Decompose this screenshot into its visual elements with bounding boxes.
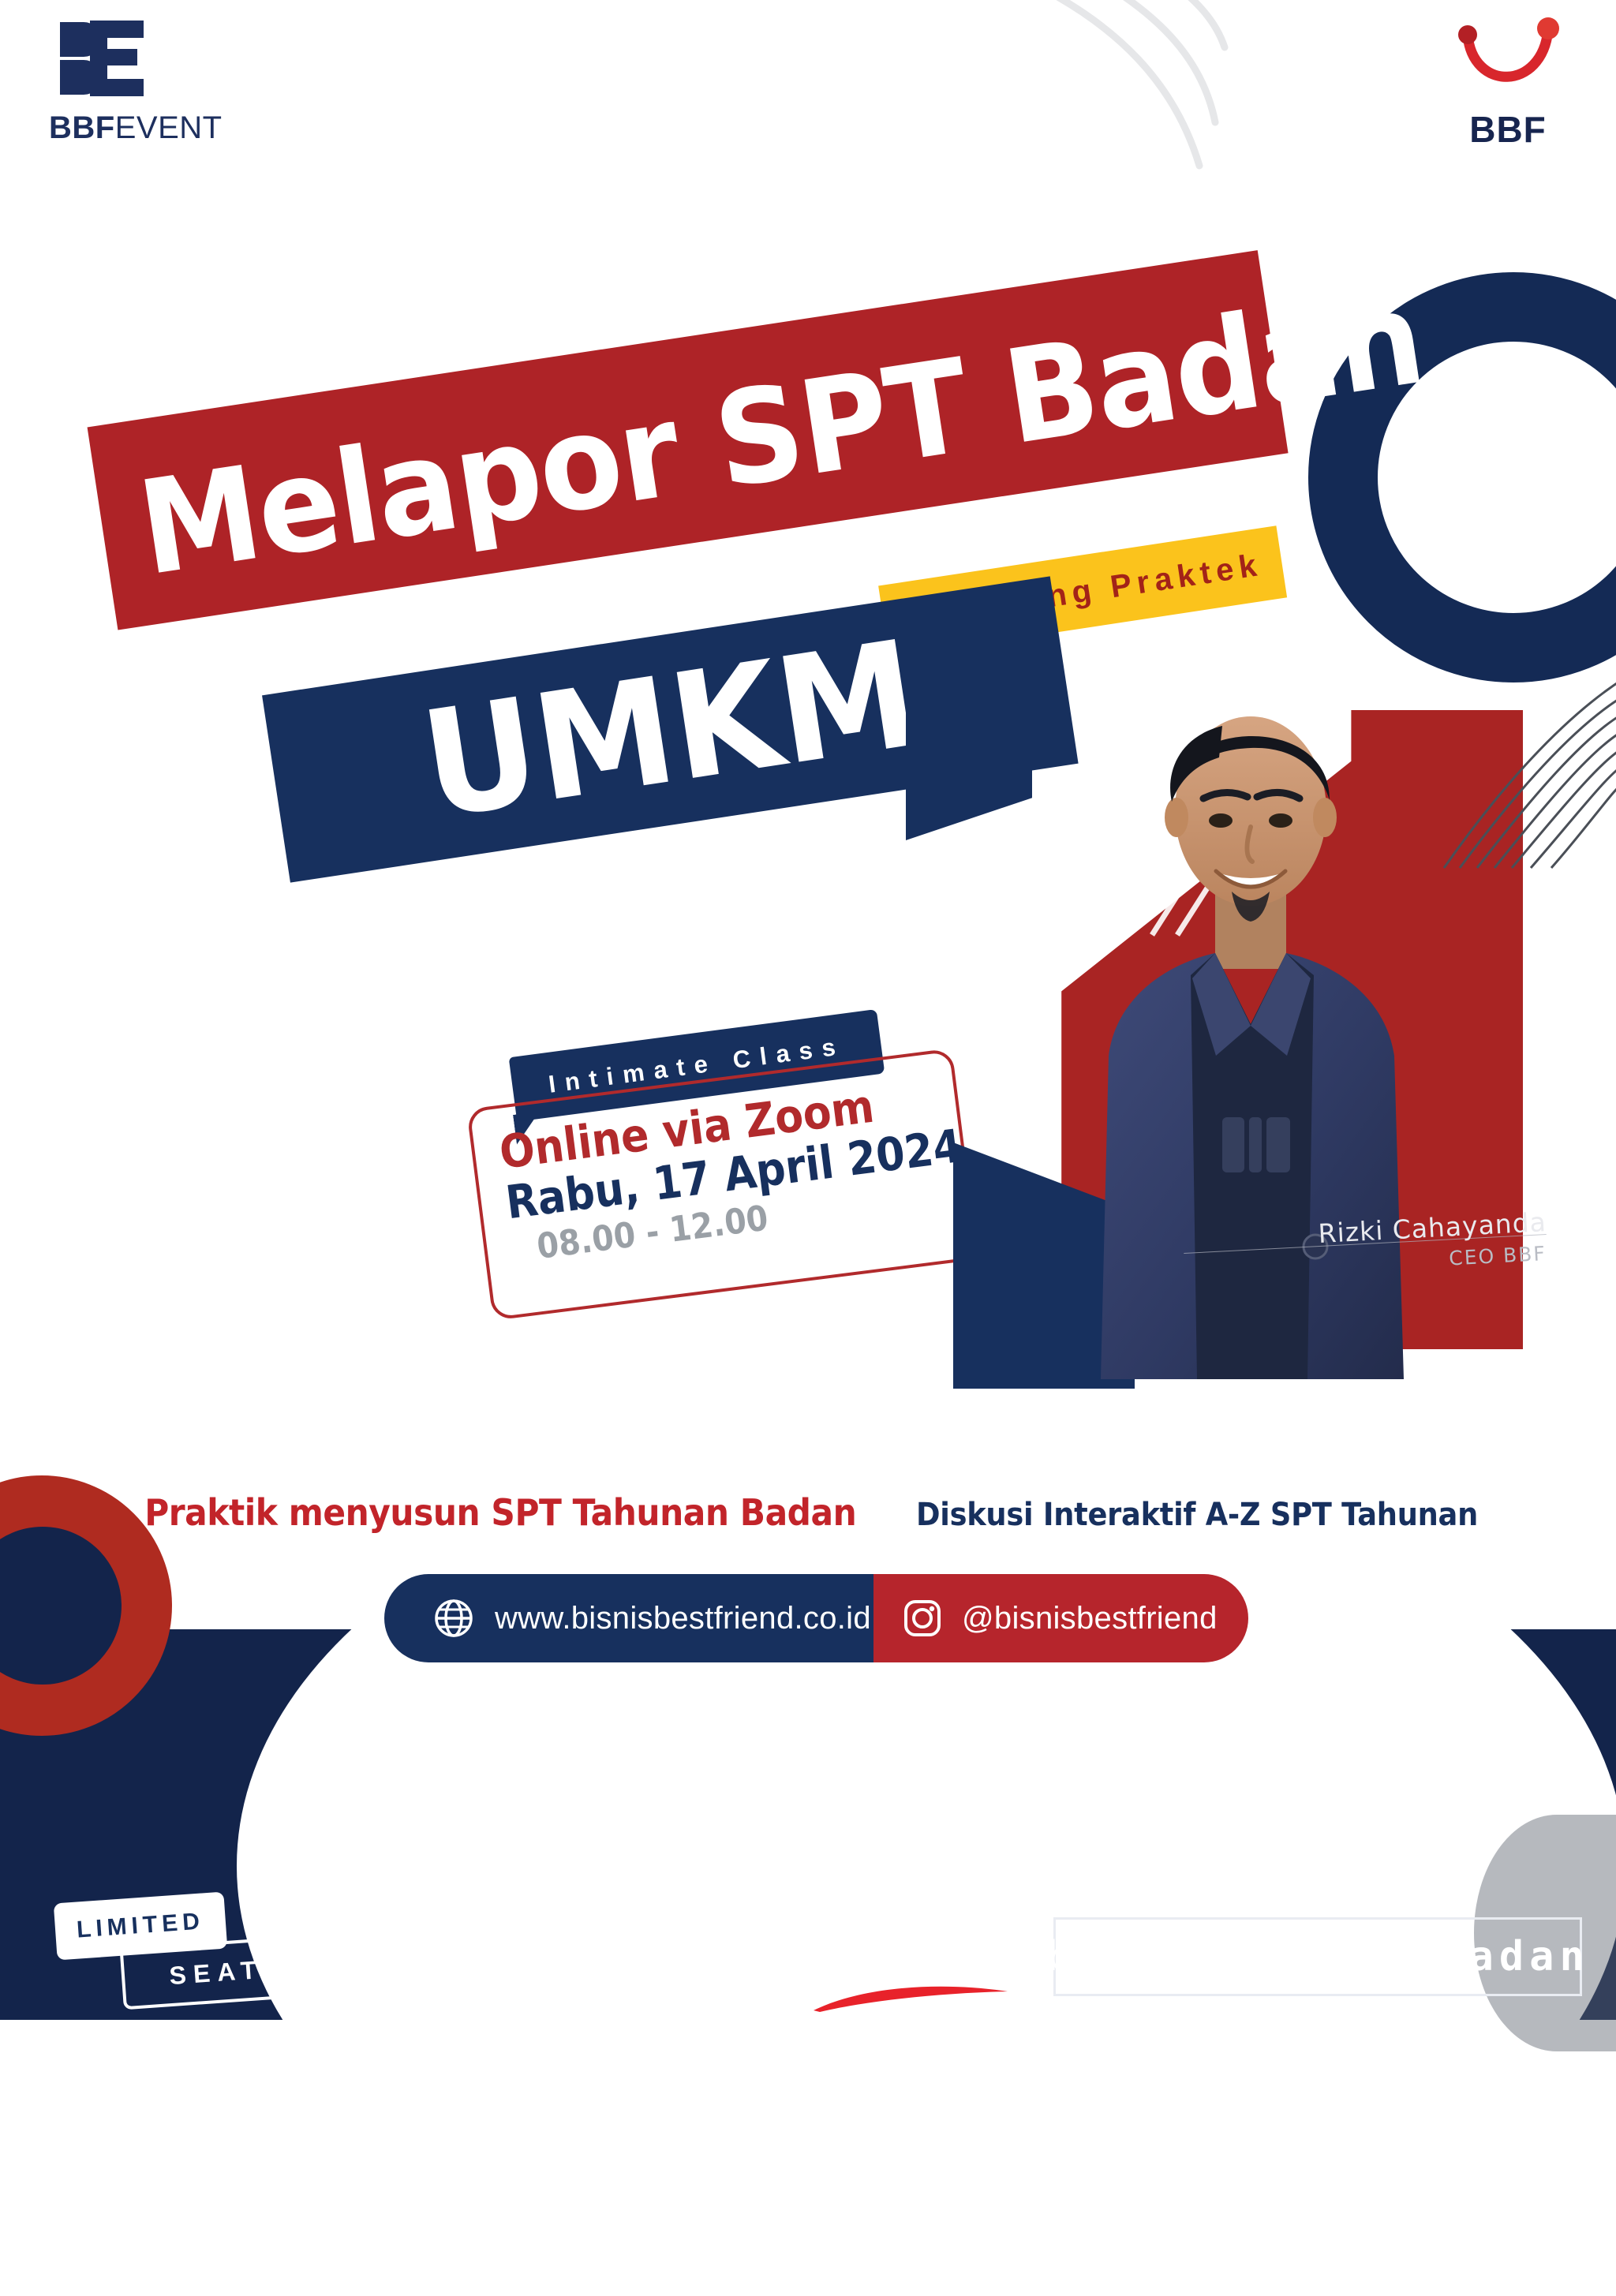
limited-label: LIMITED (76, 1908, 205, 1943)
bbf-logo: BBF (1449, 14, 1567, 156)
navy-disc-shape (0, 1527, 122, 1685)
instagram-icon (902, 1598, 943, 1639)
website-url: www.bisnisbestfriend.co.id (495, 1601, 871, 1636)
limited-seat-badge: LIMITED SEAT (49, 1898, 317, 2016)
tagline-bold: Praktik menyusun SPT Tahunan Badan (144, 1491, 856, 1534)
tagline-sub: Diskusi Interaktif A-Z SPT Tahunan (916, 1497, 1478, 1533)
register-link-box[interactable]: bit.ly/bbfsptbadan (1053, 1917, 1582, 1996)
class-info-card: Intimate Class Online via Zoom Rabu, 17 … (489, 1053, 978, 1337)
white-dome-cutout (237, 1436, 1616, 2296)
register-block: Daftar : bit.ly/bbfsptbadan (825, 1917, 1582, 2004)
speaker-name-block: Rizki Cahayanda CEO BBF (1215, 1215, 1547, 1273)
speaker-navy-top-shape (906, 671, 1032, 840)
red-swoosh-icon (810, 1980, 1023, 2014)
instagram-handle: @bisnisbestfriend (962, 1601, 1218, 1636)
tagline: Praktik menyusun SPT Tahunan BadanDiskus… (0, 1491, 1616, 1534)
seat-label-box: SEAT (120, 1935, 313, 2010)
seat-label: SEAT (168, 1954, 264, 1990)
speaker-stage: Rizki Cahayanda CEO BBF (907, 671, 1616, 1389)
website-section[interactable]: www.bisnisbestfriend.co.id (384, 1574, 873, 1662)
instagram-section[interactable]: @bisnisbestfriend (873, 1574, 1248, 1662)
globe-icon (433, 1598, 474, 1639)
headline-line2: UMKM (412, 608, 928, 851)
contact-pill[interactable]: www.bisnisbestfriend.co.id @bisnisbestfr… (384, 1574, 1248, 1662)
bbf-wordmark: BBF (1449, 108, 1567, 151)
bbf-smile-icon (1449, 14, 1567, 101)
register-link: bit.ly/bbfsptbadan (1046, 1933, 1590, 1980)
register-label: Daftar : (825, 1931, 993, 1981)
